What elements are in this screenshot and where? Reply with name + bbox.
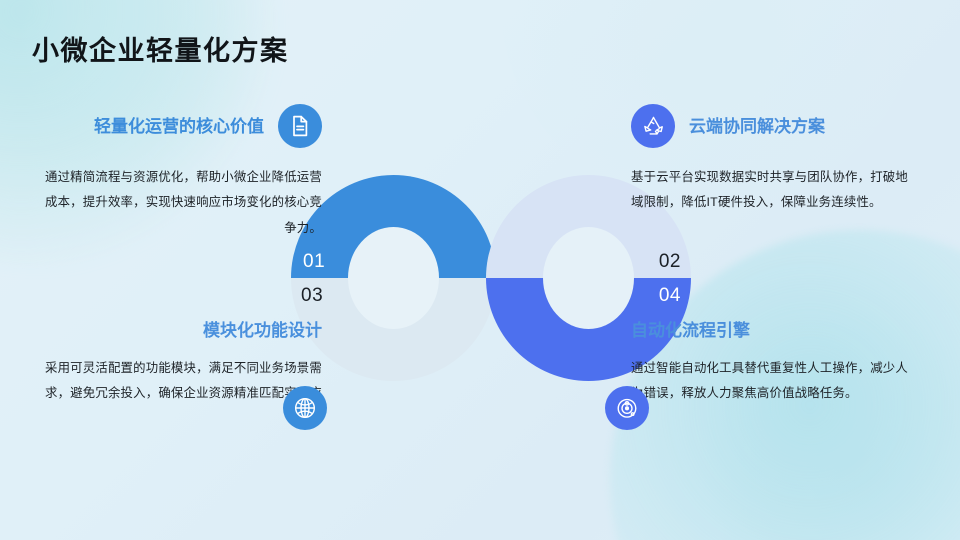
- block-01-title: 轻量化运营的核心价值: [94, 118, 264, 135]
- block-04-body: 通过智能自动化工具替代重复性人工操作，减少人为错误，释放人力聚焦高价值战略任务。: [631, 356, 917, 407]
- orbit-icon[interactable]: [605, 386, 649, 430]
- ring-left-hole: [348, 227, 439, 329]
- block-01-header: 轻量化运营的核心价值: [36, 104, 322, 148]
- content-block-01: 轻量化运营的核心价值 通过精简流程与资源优化，帮助小微企业降低运营成本，提升效率…: [36, 104, 322, 241]
- block-01-body: 通过精简流程与资源优化，帮助小微企业降低运营成本，提升效率，实现快速响应市场变化…: [36, 165, 322, 241]
- ring-number-02: 02: [659, 252, 681, 271]
- ring-number-03: 03: [301, 286, 323, 305]
- block-03-body: 采用可灵活配置的功能模块，满足不同业务场景需求，避免冗余投入，确保企业资源精准匹…: [36, 356, 322, 432]
- page-title: 小微企业轻量化方案: [32, 29, 289, 68]
- slide-canvas: 小微企业轻量化方案 01 03 02: [0, 0, 960, 540]
- block-02-title: 云端协同解决方案: [689, 118, 825, 135]
- content-block-04: 自动化流程引擎 通过智能自动化工具替代重复性人工操作，减少人为错误，释放人力聚焦…: [631, 322, 917, 407]
- block-02-body: 基于云平台实现数据实时共享与团队协作，打破地域限制，降低IT硬件投入，保障业务连…: [631, 165, 917, 216]
- recycle-icon[interactable]: [631, 104, 675, 148]
- block-03-icon-wrap: [283, 386, 327, 430]
- ring-number-01: 01: [303, 252, 325, 271]
- ring-number-04: 04: [659, 286, 681, 305]
- block-03-title: 模块化功能设计: [36, 322, 322, 339]
- block-04-icon-wrap: [605, 386, 649, 430]
- content-block-03: 模块化功能设计 采用可灵活配置的功能模块，满足不同业务场景需求，避免冗余投入，确…: [36, 322, 322, 432]
- block-04-title: 自动化流程引擎: [631, 322, 917, 339]
- document-icon[interactable]: [278, 104, 322, 148]
- globe-icon[interactable]: [283, 386, 327, 430]
- content-block-02: 云端协同解决方案 基于云平台实现数据实时共享与团队协作，打破地域限制，降低IT硬…: [631, 104, 917, 216]
- block-02-header: 云端协同解决方案: [631, 104, 917, 148]
- ring-right-hole: [543, 227, 634, 329]
